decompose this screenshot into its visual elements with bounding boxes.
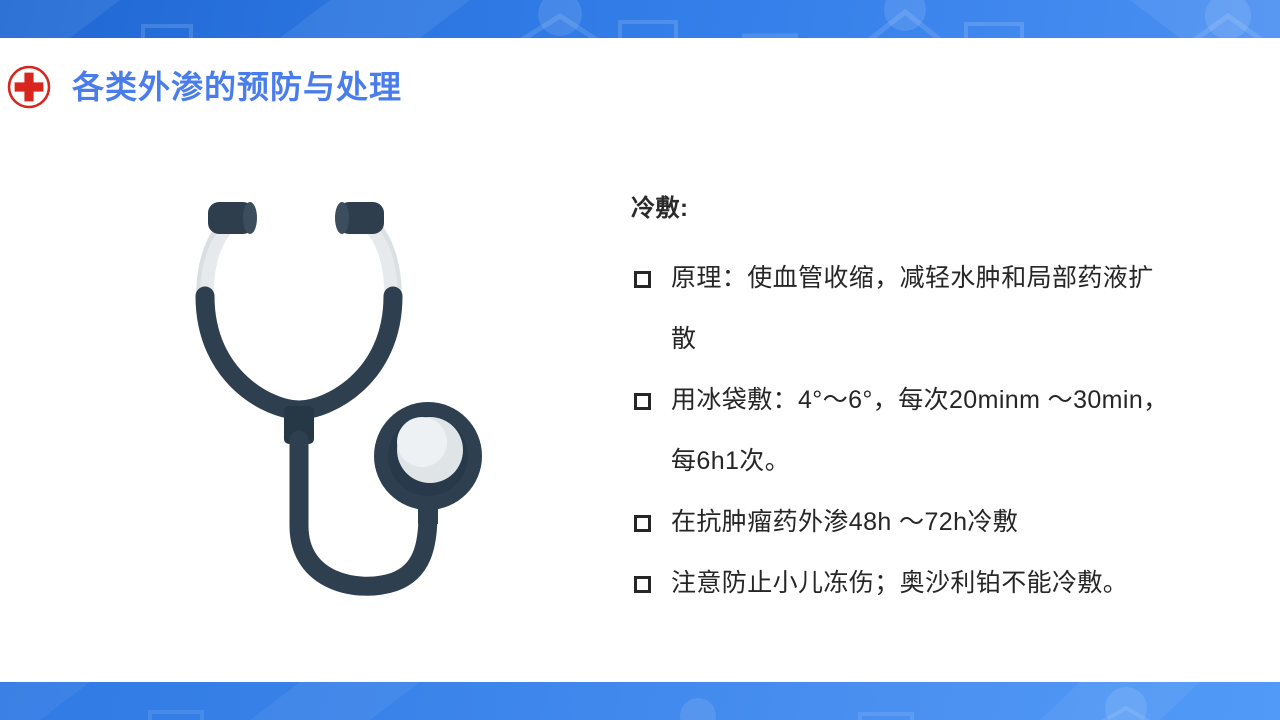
list-item-label: 在抗肿瘤药外渗48h ～72h冷敷 <box>671 492 1171 553</box>
list-item-label: 注意防止小儿冻伤；奥沙利铂不能冷敷。 <box>671 553 1171 614</box>
list-item: 在抗肿瘤药外渗48h ～72h冷敷 <box>631 492 1171 553</box>
content-heading: 冷敷: <box>631 192 1171 226</box>
earpiece-left <box>208 202 257 234</box>
hollow-square-bullet-icon <box>634 393 651 410</box>
list-item: 用冰袋敷：4°～6°，每次20minm ～30min，每6h1次。 <box>631 370 1171 492</box>
hollow-square-bullet-icon <box>634 515 651 532</box>
list-item-label: 原理：使血管收缩，减轻水肿和局部药液扩散 <box>671 248 1171 370</box>
list-item: 注意防止小儿冻伤；奥沙利铂不能冷敷。 <box>631 553 1171 614</box>
stethoscope-illustration <box>160 178 490 608</box>
list-item-label: 用冰袋敷：4°～6°，每次20minm ～30min，每6h1次。 <box>671 370 1171 492</box>
red-cross-icon <box>6 64 52 110</box>
hollow-square-bullet-icon <box>634 271 651 288</box>
bullet-list: 原理：使血管收缩，减轻水肿和局部药液扩散 用冰袋敷：4°～6°，每次20minm… <box>631 248 1171 614</box>
hollow-square-bullet-icon <box>634 576 651 593</box>
top-decorative-banner <box>0 0 1280 38</box>
list-item: 原理：使血管收缩，减轻水肿和局部药液扩散 <box>631 248 1171 370</box>
bottom-decorative-banner <box>0 682 1280 720</box>
content-column: 冷敷: 原理：使血管收缩，减轻水肿和局部药液扩散 用冰袋敷：4°～6°，每次20… <box>631 192 1171 614</box>
slide-canvas: 各类外渗的预防与处理 <box>0 0 1280 720</box>
slide-header: 各类外渗的预防与处理 <box>0 58 402 116</box>
earpiece-right <box>335 202 384 234</box>
page-title: 各类外渗的预防与处理 <box>72 71 402 103</box>
